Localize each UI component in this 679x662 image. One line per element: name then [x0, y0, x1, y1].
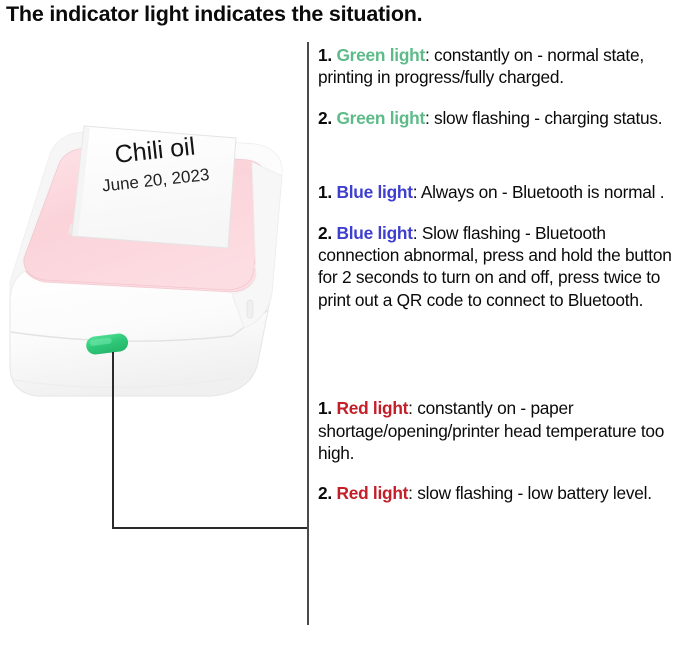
note-keyword-green: Green light	[336, 45, 424, 65]
note-blue-2: 2. Blue light: Slow flashing - Bluetooth…	[318, 222, 676, 312]
note-number: 2.	[318, 223, 332, 243]
note-number: 1.	[318, 45, 332, 65]
note-red-2: 2. Red light: slow flashing - low batter…	[318, 482, 676, 504]
indicator-notes-column: 1. Green light: constantly on - normal s…	[318, 44, 676, 505]
note-number: 1.	[318, 182, 332, 202]
note-keyword-green: Green light	[336, 108, 424, 128]
note-body: : Always on - Bluetooth is normal .	[413, 182, 665, 202]
note-red-1: 1. Red light: constantly on - paper shor…	[318, 397, 676, 464]
note-number: 1.	[318, 398, 332, 418]
vertical-divider	[307, 42, 309, 625]
callout-leader-line-horizontal	[112, 527, 308, 529]
note-number: 2.	[318, 483, 332, 503]
note-number: 2.	[318, 108, 332, 128]
printer-illustration	[0, 104, 296, 404]
note-body: : slow flashing - charging status.	[425, 108, 662, 128]
note-blue-1: 1. Blue light: Always on - Bluetooth is …	[318, 181, 676, 203]
product-photo-label-printer	[0, 104, 296, 404]
callout-leader-line-vertical	[112, 352, 114, 528]
note-body: : slow flashing - low battery level.	[408, 483, 652, 503]
printer-port	[247, 300, 253, 318]
page-title: The indicator light indicates the situat…	[6, 2, 666, 27]
note-keyword-blue: Blue light	[336, 182, 412, 202]
note-green-2: 2. Green light: slow flashing - charging…	[318, 107, 676, 129]
note-keyword-blue: Blue light	[336, 223, 412, 243]
printed-label-paper	[72, 126, 236, 248]
note-keyword-red: Red light	[336, 398, 408, 418]
note-keyword-red: Red light	[336, 483, 408, 503]
note-green-1: 1. Green light: constantly on - normal s…	[318, 44, 676, 89]
